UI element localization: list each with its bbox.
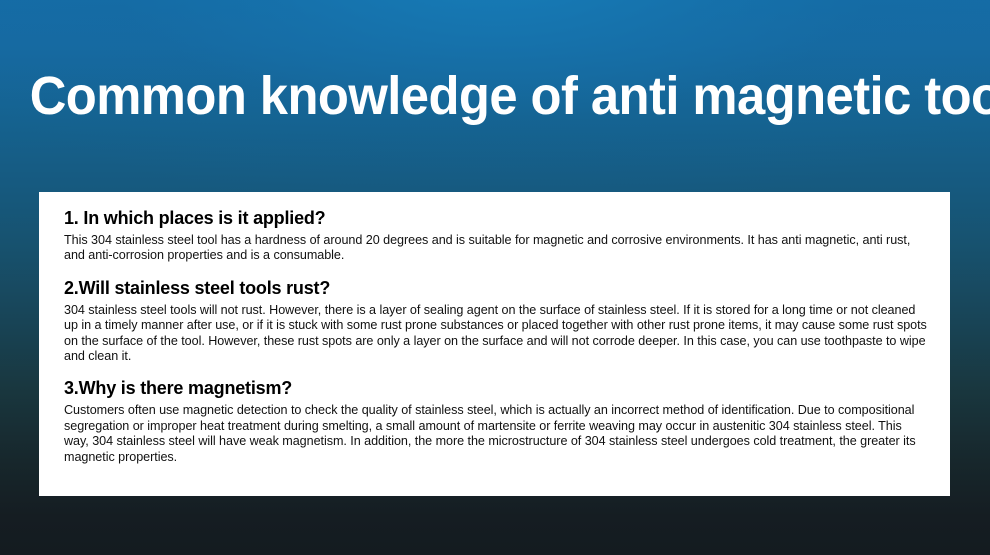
faq-heading-3: 3.Why is there magnetism? [64, 376, 928, 400]
faq-body-2: 304 stainless steel tools will not rust.… [64, 303, 928, 365]
faq-body-1: This 304 stainless steel tool has a hard… [64, 233, 928, 264]
content-card: 1. In which places is it applied? This 3… [39, 192, 950, 496]
faq-body-3: Customers often use magnetic detection t… [64, 403, 928, 465]
faq-section-1: 1. In which places is it applied? This 3… [64, 206, 928, 264]
faq-heading-1: 1. In which places is it applied? [64, 206, 928, 230]
faq-section-2: 2.Will stainless steel tools rust? 304 s… [64, 276, 928, 365]
slide: Common knowledge of anti magnetic tools … [0, 0, 990, 555]
page-title: Common knowledge of anti magnetic tools [30, 66, 961, 126]
faq-heading-2: 2.Will stainless steel tools rust? [64, 276, 928, 300]
faq-section-3: 3.Why is there magnetism? Customers ofte… [64, 376, 928, 465]
